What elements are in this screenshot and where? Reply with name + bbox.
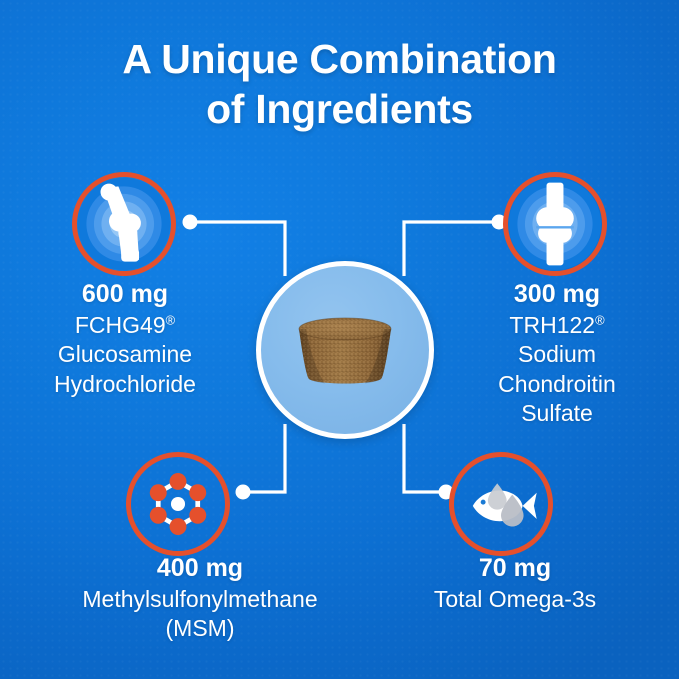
ingredient-name-line-1: TRH122® <box>452 311 662 340</box>
knee-joint-icon <box>77 177 171 271</box>
tablet-icon <box>291 313 399 387</box>
ingredient-name-line-1: FCHG49® <box>20 311 230 340</box>
ingredient-icon-glucosamine[interactable] <box>72 172 176 276</box>
connector-top-right <box>404 222 499 276</box>
ingredient-amount: 600 mg <box>20 278 230 310</box>
connector-dot-top-left <box>183 215 198 230</box>
ingredient-label-omega3: 70 mg Total Omega-3s <box>390 552 640 614</box>
ingredients-infographic: A Unique Combination of Ingredients <box>0 0 679 679</box>
ingredient-name-line-2: (MSM) <box>40 614 360 643</box>
ingredient-name-line-2: Sodium <box>452 340 662 369</box>
ingredient-icon-chondroitin[interactable] <box>503 172 607 276</box>
ingredient-name-line-1: Total Omega-3s <box>390 585 640 614</box>
connector-dot-bottom-left <box>236 485 251 500</box>
ingredient-name-line-2: Glucosamine <box>20 340 230 369</box>
connector-bottom-left <box>243 424 285 492</box>
ingredient-label-chondroitin: 300 mg TRH122® Sodium Chondroitin Sulfat… <box>452 278 662 429</box>
page-title: A Unique Combination of Ingredients <box>0 34 679 134</box>
connector-bottom-right <box>404 424 446 492</box>
ingredient-amount: 300 mg <box>452 278 662 310</box>
fish-oil-icon <box>454 457 548 551</box>
ingredient-label-msm: 400 mg Methylsulfonylmethane (MSM) <box>40 552 360 644</box>
bone-joint-icon <box>508 177 602 271</box>
ingredient-name-line-4: Sulfate <box>452 399 662 428</box>
molecule-icon <box>131 457 225 551</box>
title-line-2: of Ingredients <box>0 84 679 134</box>
ingredient-icon-msm[interactable] <box>126 452 230 556</box>
ingredient-name-line-3: Hydrochloride <box>20 370 230 399</box>
ingredient-amount: 400 mg <box>40 552 360 584</box>
ingredient-icon-omega3[interactable] <box>449 452 553 556</box>
ingredient-label-glucosamine: 600 mg FCHG49® Glucosamine Hydrochloride <box>20 278 230 399</box>
connector-top-left <box>190 222 285 276</box>
center-tablet-medallion <box>256 261 434 439</box>
ingredient-name-line-1: Methylsulfonylmethane <box>40 585 360 614</box>
ingredient-name-line-3: Chondroitin <box>452 370 662 399</box>
ingredient-amount: 70 mg <box>390 552 640 584</box>
title-line-1: A Unique Combination <box>122 36 556 82</box>
